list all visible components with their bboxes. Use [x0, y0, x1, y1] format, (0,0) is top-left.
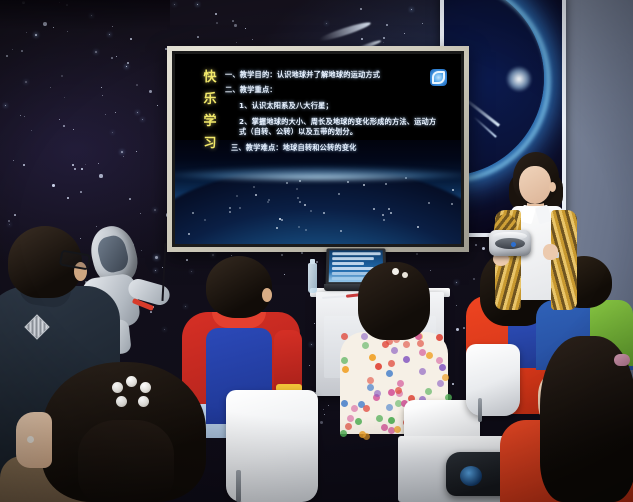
- slide-sub-item-1: 1、认识太阳系及八大行星；: [239, 101, 447, 111]
- white-chair[interactable]: [466, 344, 520, 416]
- screenshot-root: 快 乐 学 习 一、教学目的：认识地球并了解地球的运动方式 二、教学重点： 1、…: [0, 0, 633, 502]
- vtitle-char-3: 习: [199, 134, 221, 154]
- presentation-slide: 快 乐 学 习 一、教学目的：认识地球并了解地球的运动方式 二、教学重点： 1、…: [175, 54, 461, 244]
- blue-swirl-logo: [430, 69, 447, 86]
- chair-leg: [478, 398, 482, 422]
- pearl-bead: [116, 396, 127, 407]
- pearl-bead: [140, 382, 151, 393]
- slide-vertical-title: 快 乐 学 习: [199, 68, 221, 156]
- wall-mounted-flat-panel-display[interactable]: 快 乐 学 习 一、教学目的：认识地球并了解地球的运动方式 二、教学重点： 1、…: [167, 46, 469, 252]
- slide-sub-item-2: 2、掌握地球的大小、周长及地球的变化形成的方法、运动方: [239, 117, 447, 127]
- portable-star-projector[interactable]: [489, 230, 531, 256]
- female-presenter: [487, 152, 583, 322]
- slide-line-2: 二、教学重点：: [225, 85, 447, 95]
- pearl-bead: [112, 382, 123, 393]
- vtitle-char-2: 学: [199, 112, 221, 132]
- slide-sub-item-2-cont: 式（自转、公转）以及五带的划分。: [239, 127, 447, 137]
- slide-line-1: 一、教学目的：认识地球并了解地球的运动方式: [225, 70, 447, 80]
- chair-leg: [236, 470, 241, 502]
- vtitle-char-0: 快: [199, 68, 221, 88]
- slide-body-text: 一、教学目的：认识地球并了解地球的运动方式 二、教学重点： 1、认识太阳系及八大…: [225, 70, 447, 153]
- pearl-bead: [138, 396, 149, 407]
- slide-line-3: 三、教学难点：地球自转和公转的变化: [231, 143, 447, 153]
- pearl-bead: [126, 376, 137, 387]
- vtitle-char-1: 乐: [199, 90, 221, 110]
- display-bezel: 快 乐 学 习 一、教学目的：认识地球并了解地球的运动方式 二、教学重点： 1、…: [172, 51, 464, 247]
- water-bottle[interactable]: [308, 263, 317, 293]
- ceiling-shadow: [0, 0, 170, 30]
